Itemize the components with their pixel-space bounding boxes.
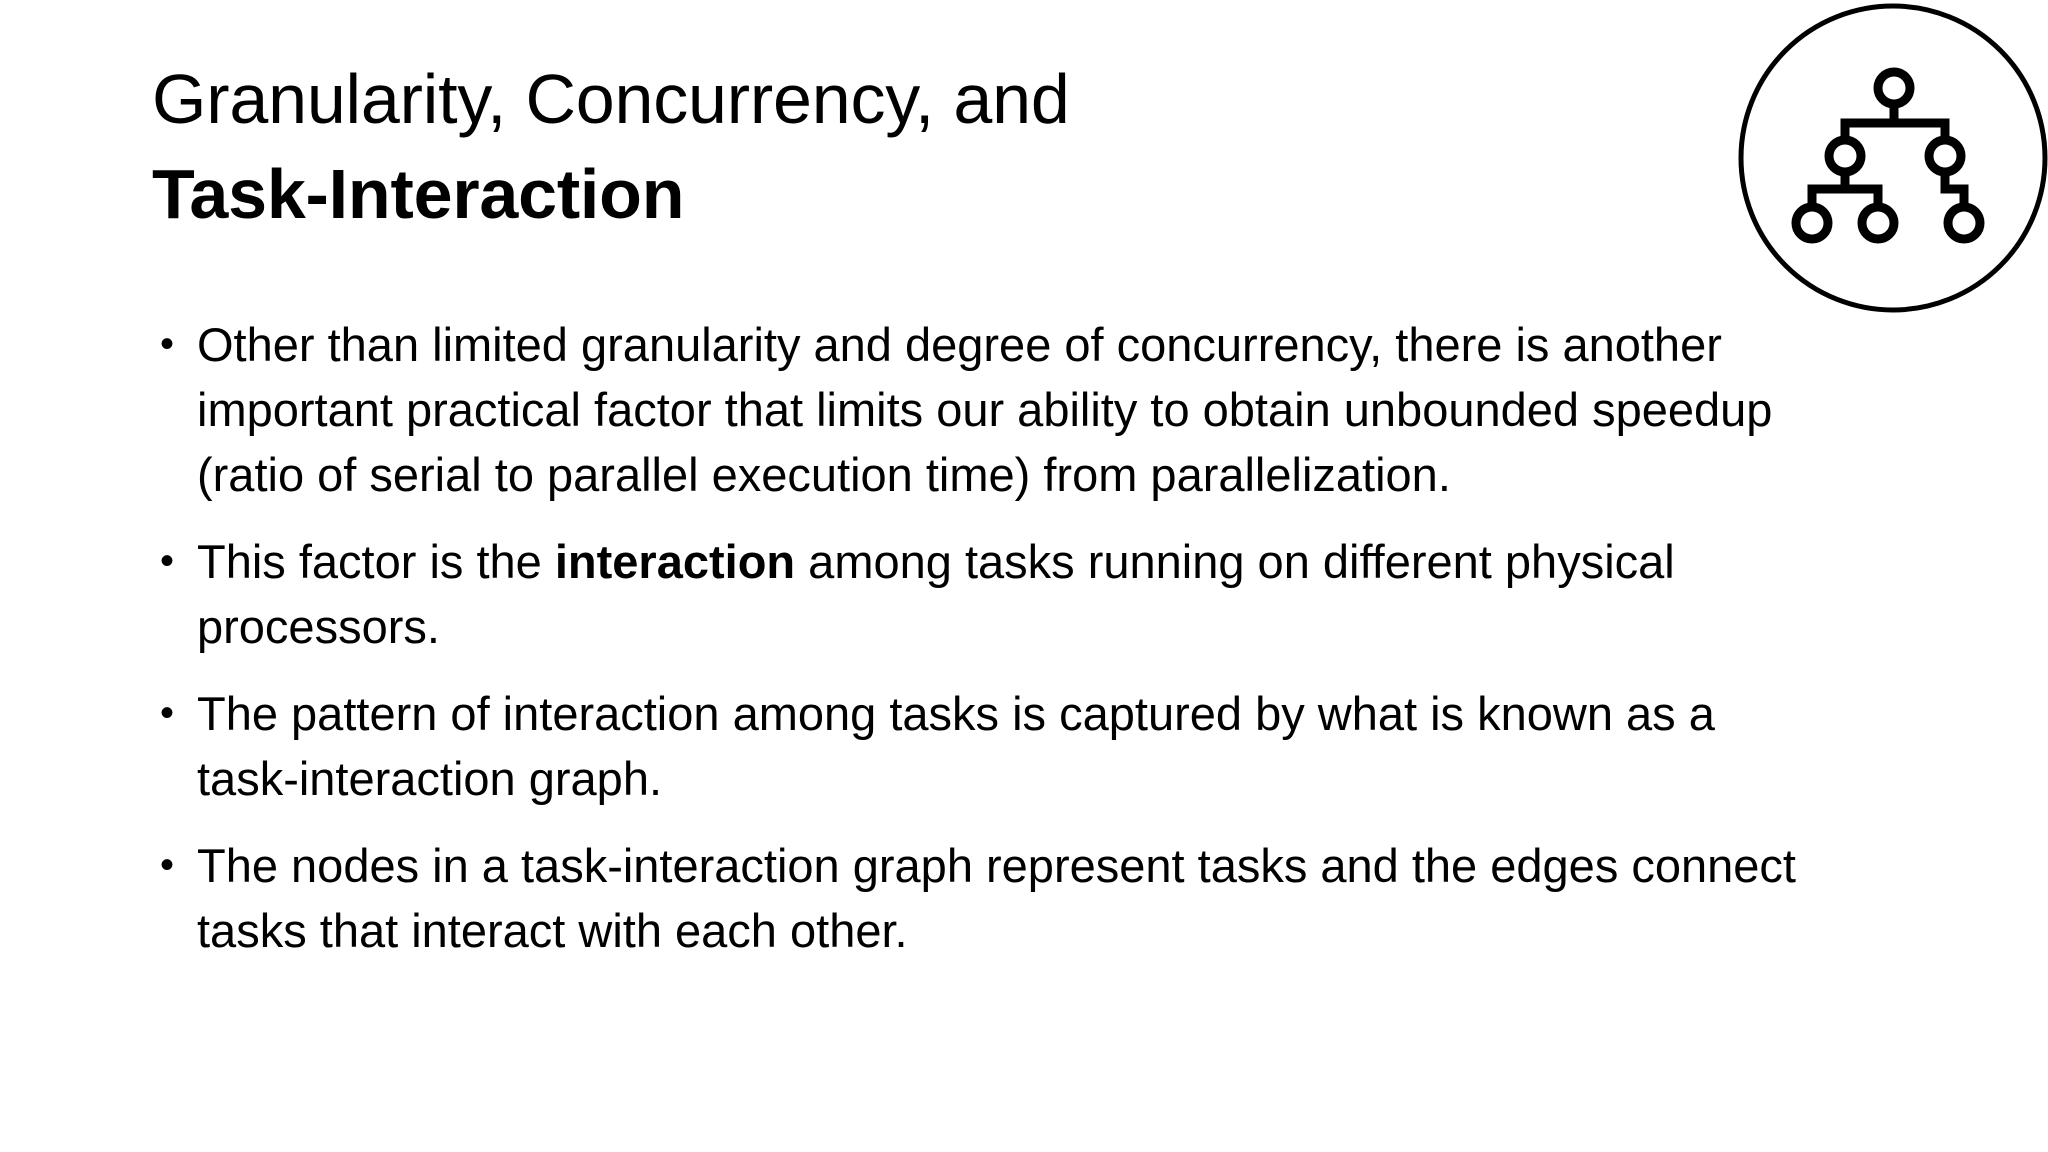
list-item: • This factor is the interaction among t…: [152, 529, 1812, 659]
list-item: • Other than limited granularity and deg…: [152, 312, 1812, 507]
title-line-1: Granularity, Concurrency, and: [152, 52, 1692, 147]
list-item-text-part: This factor is the: [197, 535, 555, 588]
list-item-text: This factor is the interaction among tas…: [197, 529, 1812, 659]
emphasis-interaction: interaction: [555, 535, 795, 588]
bullet-list: • Other than limited granularity and deg…: [152, 312, 1812, 963]
bullet-marker: •: [160, 681, 186, 746]
page-title: Granularity, Concurrency, and Task-Inter…: [152, 52, 1692, 242]
list-item-text: The nodes in a task-interaction graph re…: [197, 833, 1812, 963]
list-item: • The pattern of interaction among tasks…: [152, 681, 1812, 811]
bullet-marker: •: [160, 529, 186, 594]
title-line-2: Task-Interaction: [152, 147, 1692, 242]
bullet-marker: •: [160, 312, 186, 377]
list-item-text: Other than limited granularity and degre…: [197, 312, 1812, 507]
slide-canvas: Granularity, Concurrency, and Task-Inter…: [0, 0, 2048, 1152]
list-item: • The nodes in a task-interaction graph …: [152, 833, 1812, 963]
list-item-text: The pattern of interaction among tasks i…: [197, 681, 1812, 811]
hierarchy-tree-icon-svg: [1738, 2, 2048, 314]
bullet-marker: •: [160, 833, 186, 898]
hierarchy-tree-icon: [1738, 2, 2048, 314]
